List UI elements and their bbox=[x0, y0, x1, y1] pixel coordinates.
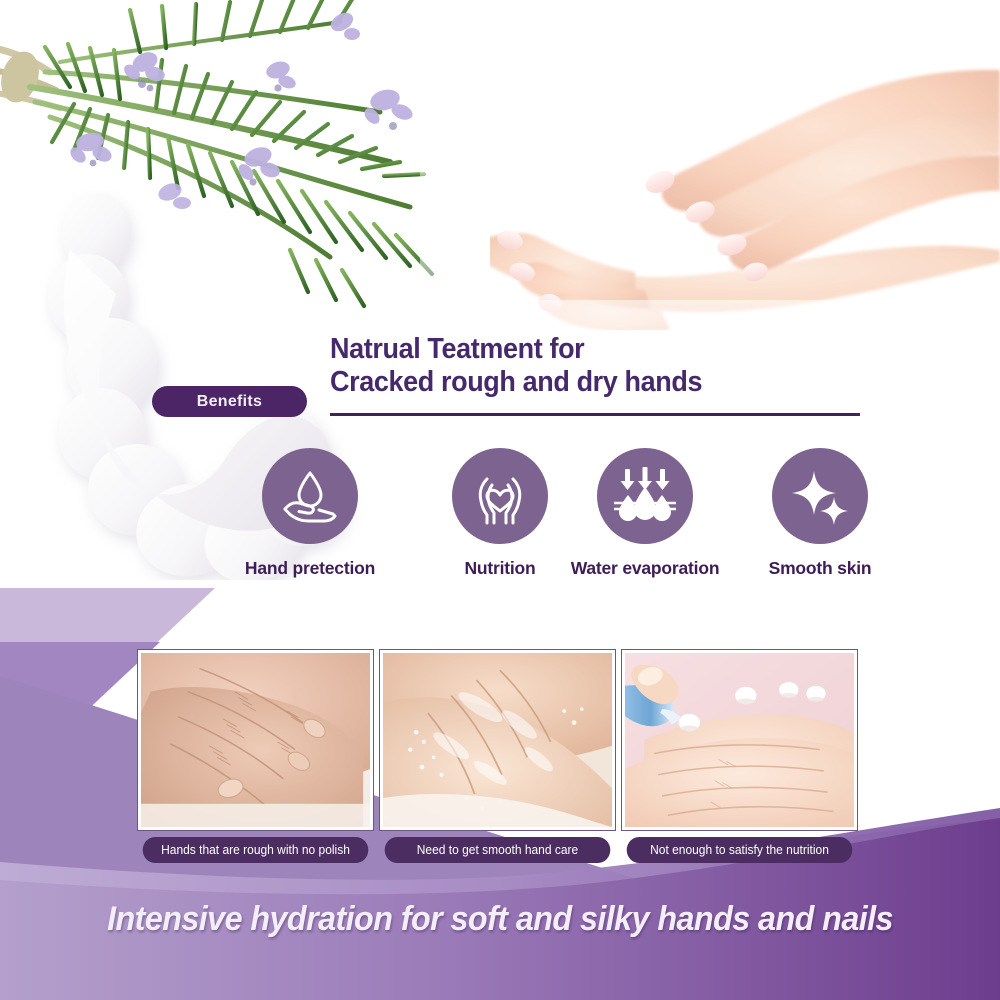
problem-photo-cards: Hands that are rough with no polish bbox=[0, 650, 1000, 875]
benefit-label: Smooth skin bbox=[730, 558, 910, 579]
headline-line-1: Natrual Teatment for bbox=[330, 333, 584, 365]
soft-hands-photo bbox=[460, 0, 1000, 330]
hero-photo-area bbox=[0, 0, 1000, 340]
headline-underline bbox=[330, 413, 860, 416]
product-infographic: Natrual Teatment for Cracked rough and d… bbox=[0, 0, 1000, 1000]
hand-with-droplet-icon bbox=[279, 465, 341, 527]
benefits-badge: Benefits bbox=[152, 386, 307, 417]
photo-card: Need to get smooth hand care bbox=[380, 650, 615, 863]
benefit-icon-circle bbox=[597, 448, 693, 544]
photo-card-caption: Hands that are rough with no polish bbox=[143, 837, 369, 863]
washing-hands-illustration bbox=[383, 653, 612, 827]
photo-card-caption: Need to get smooth hand care bbox=[385, 837, 611, 863]
hands-holding-heart-icon bbox=[469, 465, 531, 527]
photo-card: Hands that are rough with no polish bbox=[138, 650, 373, 863]
cream-tube-on-hand-illustration bbox=[625, 653, 854, 827]
headline-line-2: Cracked rough and dry hands bbox=[330, 366, 823, 399]
rough-hands-illustration bbox=[141, 653, 370, 827]
photo-card: Not enough to satisfy the nutrition bbox=[622, 650, 857, 863]
benefit-label-line1: Nutrition bbox=[464, 558, 535, 578]
benefit-icon-circle bbox=[772, 448, 868, 544]
wet-soapy-hands-photo bbox=[380, 650, 615, 830]
benefit-item-water-evaporation: Water evaporation prevention bbox=[555, 448, 735, 601]
benefit-item-hand-protection: Hand pretection effect bbox=[220, 448, 400, 601]
benefit-icon-circle bbox=[262, 448, 358, 544]
photo-card-caption: Not enough to satisfy the nutrition bbox=[627, 837, 853, 863]
benefit-item-smooth-skin: Smooth skin bbox=[730, 448, 910, 579]
rough-dry-hands-photo bbox=[138, 650, 373, 830]
benefit-label-line1: Smooth skin bbox=[769, 558, 872, 578]
benefit-icon-circle bbox=[452, 448, 548, 544]
benefit-label-line1: Water evaporation bbox=[571, 558, 720, 578]
droplets-absorb-arrows-icon bbox=[612, 463, 678, 529]
bottom-banner-text: Intensive hydration for soft and silky h… bbox=[25, 900, 975, 939]
page-headline: Natrual Teatment for Cracked rough and d… bbox=[330, 333, 823, 399]
benefit-label-line1: Hand pretection bbox=[245, 558, 375, 578]
sparkle-shine-icon bbox=[789, 465, 851, 527]
cream-application-photo bbox=[622, 650, 857, 830]
